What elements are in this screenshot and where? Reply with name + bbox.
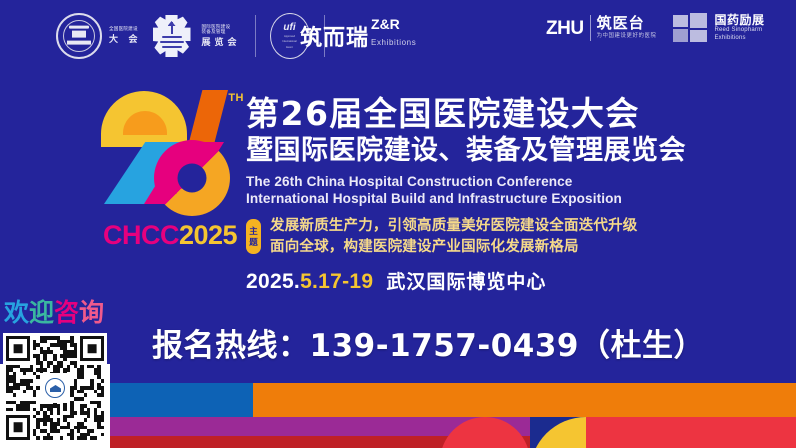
organizer-logo-group: 全国医院建设 大 会 国际医院建设 装备及管理 展览会 ufi Approved… [56,13,332,59]
main-title-en-line2: International Hospital Build and Infrast… [246,190,786,207]
event-poster: 全国医院建设 大 会 国际医院建设 装备及管理 展览会 ufi Approved… [0,0,796,448]
zhu-slogan: 为中国建设更好的医院 [597,34,657,40]
chcc-26-logo-mark: TH CHCC2025 [96,88,244,258]
chcc-wordmark: CHCC2025 [96,220,244,251]
main-title-cn-line1: 第26届全国医院建设大会 [246,96,786,133]
registration-hotline: 报名热线：139-1757-0439（杜生） [152,320,705,365]
chcc-brand-text: CHCC [103,220,179,250]
qr-contact-panel: 欢迎咨询 [0,300,110,448]
logo-shape-donut [154,140,230,216]
header-logo-bar: 全国医院建设 大 会 国际医院建设 装备及管理 展览会 ufi Approved… [0,0,796,74]
logo-divider [255,15,256,57]
band-blue-strip [110,383,253,417]
qr-code[interactable] [3,333,107,443]
conference-emblem-text: 全国医院建设 大 会 [109,27,142,44]
event-date-days: 5.17-19 [300,270,373,294]
band-navy-strip [0,364,796,383]
event-venue: 武汉国际博览中心 [386,267,546,294]
welcome-char-2: 迎 [29,298,54,327]
theme-badge-char-2: 题 [249,238,258,247]
welcome-char-4: 询 [79,298,104,327]
zr-exhibitions-logo: 筑而瑞 Z&R Exhibitions [300,17,416,49]
theme-badge: 主 题 [246,219,261,254]
reed-seal-icon [673,13,709,43]
zr-english-sub: Exhibitions [371,38,416,47]
building-glyph-icon [67,26,91,46]
exhibition-emblem-text: 国际医院建设 装备及管理 展览会 [202,25,241,47]
main-title-cn-line2: 暨国际医院建设、装备及管理展览会 [246,135,786,167]
main-title-en-line1: The 26th China Hospital Construction Con… [246,173,786,190]
exhibition-emblem-small-text-2: 装备及管理 [202,30,241,35]
snowflake-medical-icon [149,13,195,59]
ufi-sub-3: Event [286,46,293,49]
reed-english-name-2: Exhibitions [714,35,764,43]
zhu-divider [590,15,591,41]
ufi-wordmark: ufi [283,23,295,33]
theme-row: 主 题 发展新质生产力，引领高质量美好医院建设全面迭代升级 面向全球，构建医院建… [246,216,786,257]
band-orange-strip [253,383,796,417]
chcc-year-text: 2025 [179,220,237,250]
partner-logo-group: ZHU 筑医台 为中国建设更好的医院 国药励展 Reed Sinopharm [546,13,765,43]
zr-chinese-name: 筑而瑞 [300,27,369,49]
welcome-inquiry-text: 欢迎咨询 [4,300,104,325]
hospital-building-emblem-icon [56,13,102,59]
reed-sinopharm-logo: 国药励展 Reed Sinopharm Exhibitions [673,13,764,43]
theme-badge-char-1: 主 [249,227,258,236]
reed-chinese-name: 国药励展 [714,14,764,27]
theme-text-group: 发展新质生产力，引领高质量美好医院建设全面迭代升级 面向全球，构建医院建设产业国… [270,216,638,257]
zr-english-name: Z&R [371,16,400,32]
logo-shape-orange-slash [188,90,228,146]
welcome-char-3: 咨 [54,298,79,327]
reed-english-name-1: Reed Sinopharm [714,27,764,35]
ufi-sub-1: Approved [284,35,295,38]
event-date-year: 2025. [246,270,300,294]
theme-line-1: 发展新质生产力，引领高质量美好医院建设全面迭代升级 [270,216,638,237]
conference-emblem-large-text: 大 会 [109,35,142,44]
conference-emblem-small-text: 全国医院建设 [109,27,142,32]
zhuyitai-logo: ZHU 筑医台 为中国建设更好的医院 [546,15,656,41]
ordinal-suffix: TH [228,92,244,104]
zhu-english-name: ZHU [546,19,584,38]
decorative-color-band [0,364,796,448]
ufi-sub-2: International [282,40,296,43]
qr-center-emblem-icon [40,373,70,403]
theme-line-2: 面向全球，构建医院建设产业国际化发展新格局 [270,237,638,258]
title-block: 第26届全国医院建设大会 暨国际医院建设、装备及管理展览会 The 26th C… [246,96,786,294]
zhu-chinese-name: 筑医台 [597,16,657,33]
event-date-venue: 2025.5.17-19 武汉国际博览中心 [246,267,786,294]
exhibition-emblem-large-text: 展览会 [202,38,241,47]
welcome-char-1: 欢 [4,298,29,327]
